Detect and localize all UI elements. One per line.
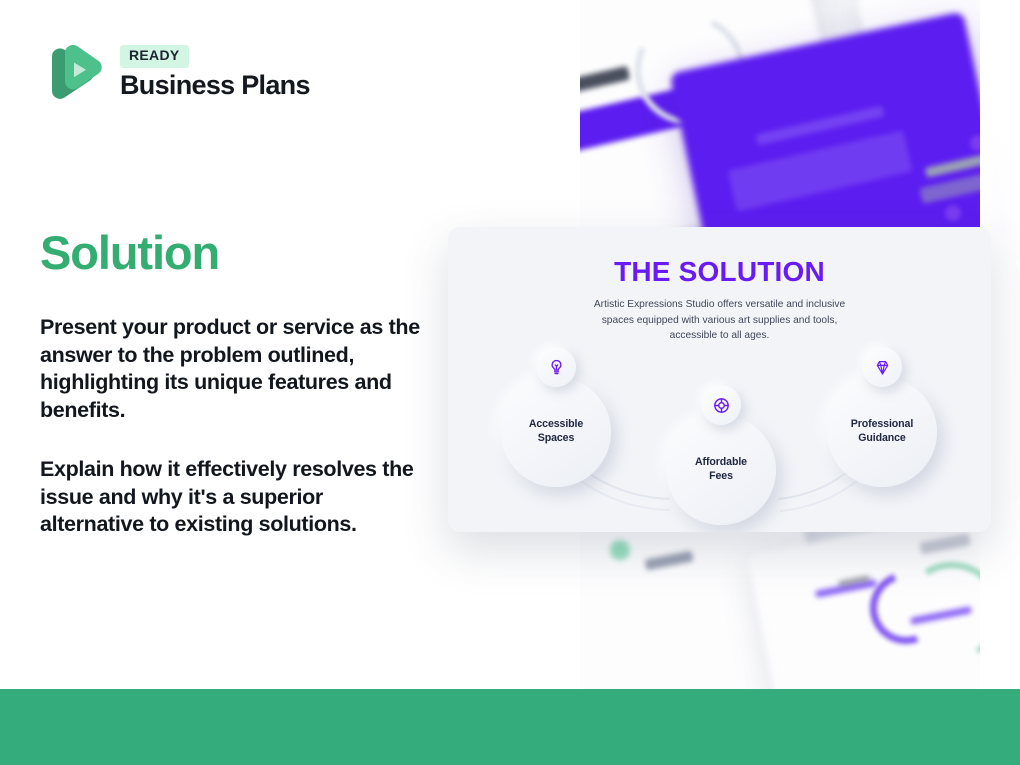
node-label-line-2: Spaces	[538, 432, 575, 444]
card-title: THE SOLUTION	[448, 258, 991, 286]
background-dot	[610, 540, 630, 560]
left-content-panel: READY Business Plans Solution Present yo…	[0, 0, 470, 689]
diamond-icon	[862, 347, 902, 387]
node-label-line-2: Guidance	[858, 432, 905, 444]
solution-preview-card[interactable]: THE SOLUTION Artistic Expressions Studio…	[448, 227, 991, 532]
page-title: Solution	[40, 229, 430, 276]
ready-badge: READY	[120, 45, 189, 67]
lifebuoy-icon	[701, 385, 741, 425]
node-circle: Accessible Spaces	[501, 377, 611, 487]
solution-node-group: Accessible Spaces Affordable F	[448, 347, 991, 532]
card-description: Artistic Expressions Studio offers versa…	[586, 297, 854, 344]
brand-lockup: READY Business Plans	[40, 40, 430, 106]
body-paragraph-1: Present your product or service as the a…	[40, 314, 430, 424]
slide-root: READY Business Plans Solution Present yo…	[0, 0, 1020, 765]
node-label: Accessible Spaces	[529, 418, 583, 445]
body-paragraph-2: Explain how it effectively resolves the …	[40, 456, 430, 539]
node-label-line-1: Affordable	[695, 456, 747, 468]
node-circle: Affordable Fees	[666, 415, 776, 525]
node-label-line-1: Professional	[851, 418, 913, 430]
brand-name: Business Plans	[120, 70, 310, 101]
background-dot	[970, 135, 986, 151]
node-label: Affordable Fees	[695, 456, 747, 483]
play-triangle-logo-icon	[40, 40, 106, 106]
footer-band	[0, 689, 1020, 765]
node-label-line-1: Accessible	[529, 418, 583, 430]
lightbulb-icon	[536, 347, 576, 387]
brand-text-block: READY Business Plans	[120, 45, 310, 100]
background-dot	[945, 205, 961, 221]
node-label: Professional Guidance	[851, 418, 913, 445]
node-circle: Professional Guidance	[827, 377, 937, 487]
node-label-line-2: Fees	[709, 470, 733, 482]
